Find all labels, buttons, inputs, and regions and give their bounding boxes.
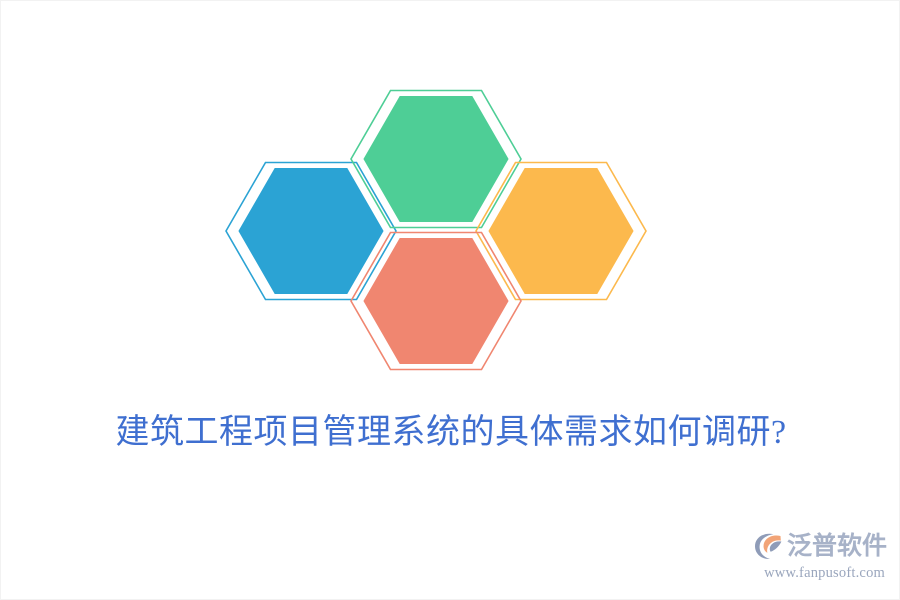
fanpu-swoosh-icon <box>753 531 785 561</box>
hexagon-green <box>351 91 521 228</box>
hexagon-green-fill <box>364 97 508 222</box>
hexagon-salmon <box>351 233 521 370</box>
brand-logo-top: 泛普软件 <box>753 529 885 563</box>
hexagon-blue-fill <box>239 169 383 294</box>
brand-url: www.fanpusoft.com <box>753 564 885 582</box>
hexagon-cluster <box>1 1 900 401</box>
brand-name: 泛普软件 <box>787 531 887 561</box>
hexagon-blue <box>226 163 396 300</box>
hexagon-orange <box>476 163 646 300</box>
page-title: 建筑工程项目管理系统的具体需求如何调研? <box>1 405 900 461</box>
hexagon-salmon-fill <box>364 239 508 364</box>
brand-logo: 泛普软件 www.fanpusoft.com <box>753 529 885 583</box>
hexagon-cluster-svg <box>1 1 900 401</box>
slide-canvas: 建筑工程项目管理系统的具体需求如何调研? 泛普软件 www.fanpusoft.… <box>0 0 900 600</box>
hexagon-orange-fill <box>489 169 633 294</box>
